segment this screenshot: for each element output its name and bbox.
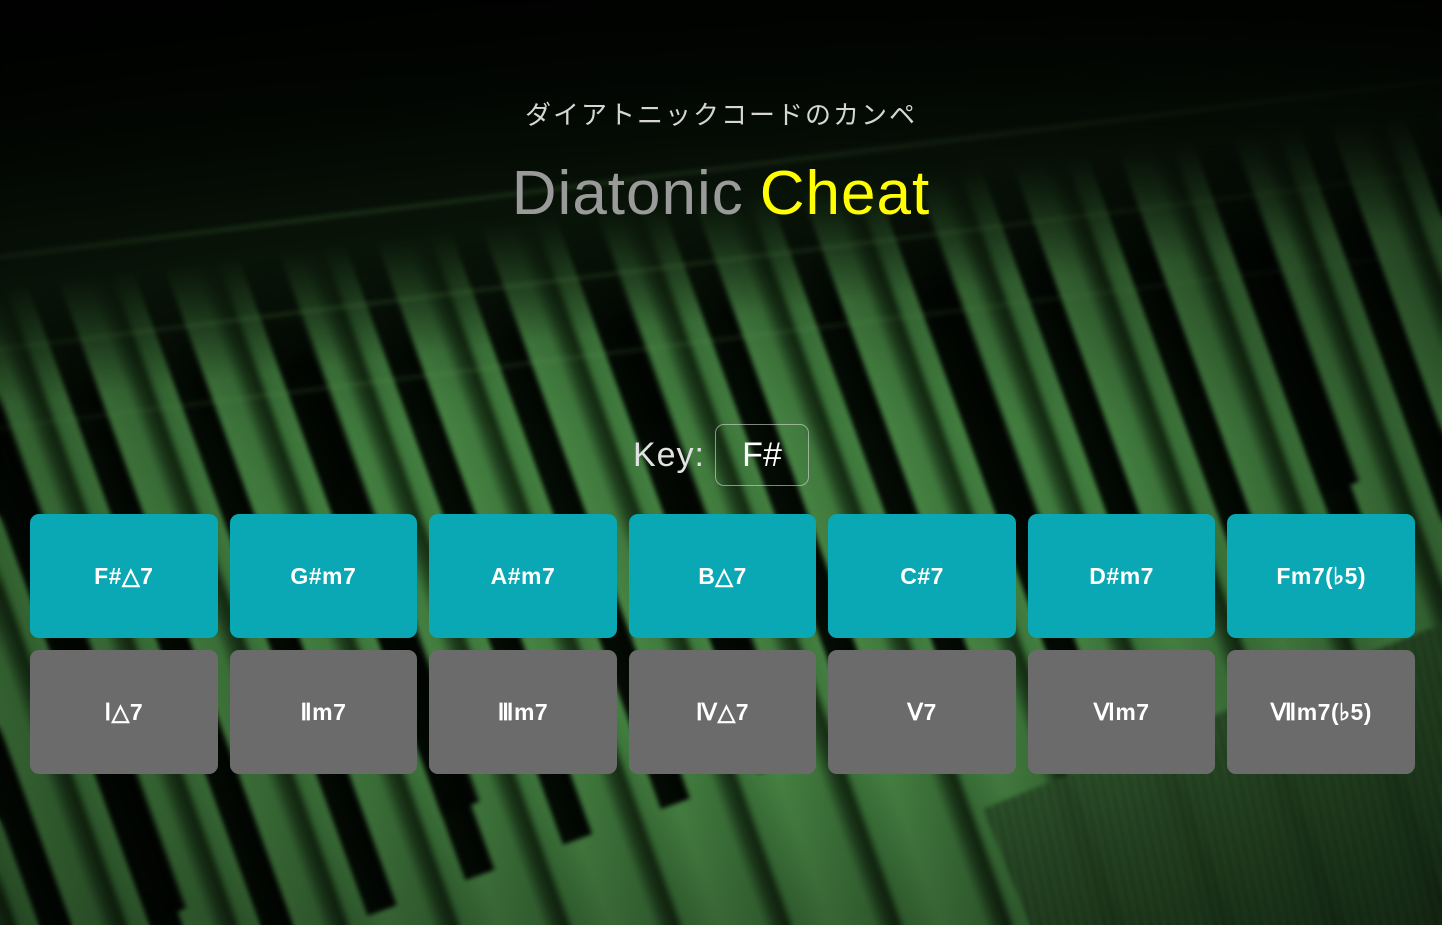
chord-button[interactable]: C#7 [828,514,1016,638]
chord-button[interactable]: F#△7 [30,514,218,638]
diatonic-cheat-page: ダイアトニックコードのカンペ DiatonicCheat Key: F# F#△… [0,0,1442,925]
degree-button[interactable]: Ⅶm7(♭5) [1227,650,1415,774]
page-title-main: Diatonic [512,159,744,228]
key-select[interactable]: F# [715,424,809,486]
key-label: Key: [633,436,705,475]
chord-button[interactable]: B△7 [629,514,817,638]
degree-button[interactable]: Ⅳ△7 [629,650,817,774]
page-subtitle: ダイアトニックコードのカンペ [0,95,1442,132]
chord-button[interactable]: D#m7 [1028,514,1216,638]
degree-button[interactable]: Ⅰ△7 [30,650,218,774]
degree-button[interactable]: Ⅱm7 [230,650,418,774]
degree-button-row: Ⅰ△7 Ⅱm7 Ⅲm7 Ⅳ△7 Ⅴ7 Ⅵm7 Ⅶm7(♭5) [30,650,1415,774]
chord-button[interactable]: G#m7 [230,514,418,638]
degree-button[interactable]: Ⅴ7 [828,650,1016,774]
chord-button[interactable]: A#m7 [429,514,617,638]
page-title: DiatonicCheat [0,158,1442,229]
chord-button[interactable]: Fm7(♭5) [1227,514,1415,638]
degree-button[interactable]: Ⅲm7 [429,650,617,774]
key-selector-row: Key: F# [0,424,1442,486]
page-content: ダイアトニックコードのカンペ DiatonicCheat Key: F# F#△… [0,0,1442,925]
chord-button-row: F#△7 G#m7 A#m7 B△7 C#7 D#m7 Fm7(♭5) [30,514,1415,638]
page-title-accent: Cheat [760,159,930,228]
degree-button[interactable]: Ⅵm7 [1028,650,1216,774]
